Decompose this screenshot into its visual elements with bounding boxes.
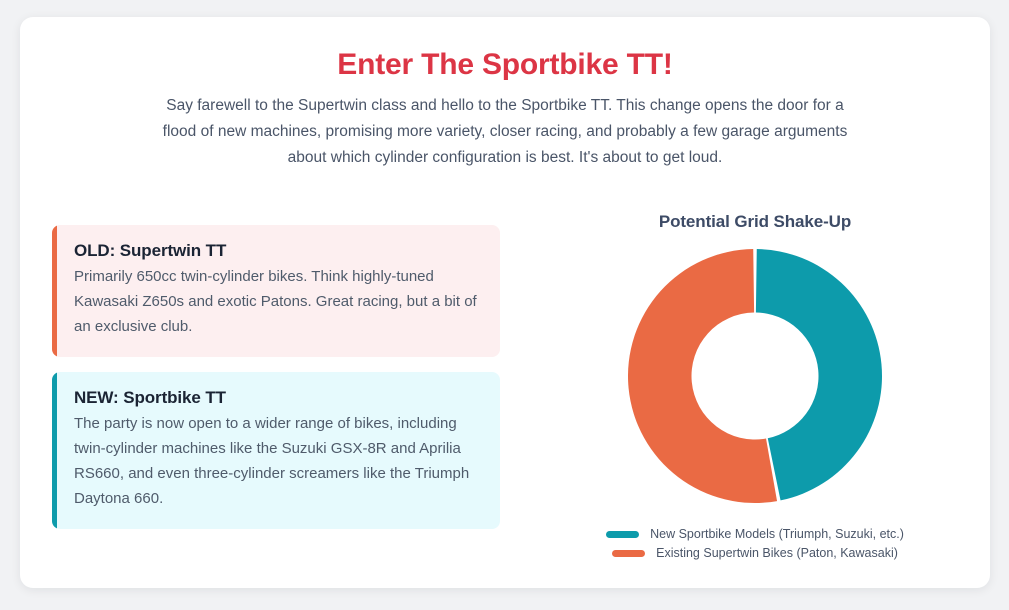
card-old-title: OLD: Supertwin TT	[74, 241, 480, 261]
card-old-title-lead: OLD:	[74, 241, 115, 260]
legend-swatch	[612, 550, 645, 557]
card-new-title-lead: NEW:	[74, 388, 119, 407]
page-title: Enter The Sportbike TT!	[20, 48, 990, 82]
card-old-body: Primarily 650cc twin-cylinder bikes. Thi…	[74, 264, 480, 339]
intro-paragraph: Say farewell to the Supertwin class and …	[155, 93, 855, 171]
chart-panel: Potential Grid Shake-Up New Sportbike Mo…	[530, 202, 980, 572]
legend-label: Existing Supertwin Bikes (Paton, Kawasak…	[656, 546, 898, 560]
legend-swatch	[606, 531, 639, 538]
card-accent-bar-new	[52, 372, 57, 529]
legend-item[interactable]: Existing Supertwin Bikes (Paton, Kawasak…	[530, 546, 980, 560]
chart-title: Potential Grid Shake-Up	[530, 212, 980, 232]
card-new-title: NEW: Sportbike TT	[74, 388, 480, 408]
donut-slice[interactable]	[628, 249, 777, 503]
card-accent-bar-old	[52, 225, 57, 357]
chart-legend: New Sportbike Models (Triumph, Suzuki, e…	[530, 527, 980, 565]
card-new-body: The party is now open to a wider range o…	[74, 411, 480, 511]
donut-slice[interactable]	[756, 249, 882, 500]
content-card: Enter The Sportbike TT! Say farewell to …	[20, 17, 990, 588]
legend-item[interactable]: New Sportbike Models (Triumph, Suzuki, e…	[530, 527, 980, 541]
card-old-supertwin: OLD: Supertwin TT Primarily 650cc twin-c…	[52, 225, 500, 357]
legend-label: New Sportbike Models (Triumph, Suzuki, e…	[650, 527, 904, 541]
card-new-title-rest: Sportbike TT	[119, 388, 226, 407]
comparison-column: OLD: Supertwin TT Primarily 650cc twin-c…	[52, 225, 500, 544]
donut-chart-svg	[624, 245, 886, 507]
card-old-title-rest: Supertwin TT	[115, 241, 226, 260]
donut-chart	[624, 245, 886, 507]
card-new-sportbike: NEW: Sportbike TT The party is now open …	[52, 372, 500, 529]
